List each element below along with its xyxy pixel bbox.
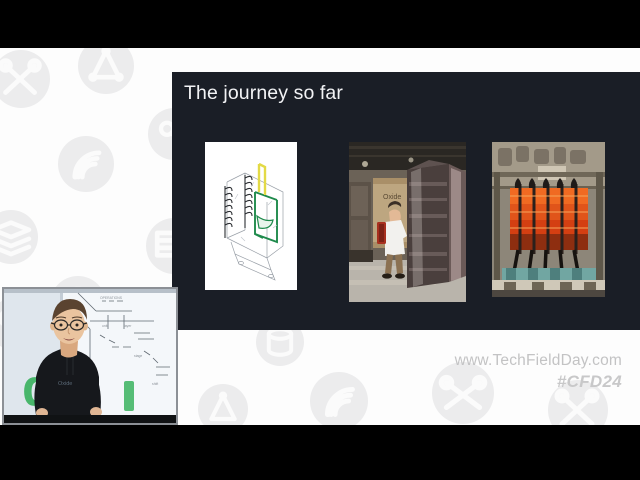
branding-block: www.TechFieldDay.com #CFD24: [455, 351, 622, 393]
brand-url: www.TechFieldDay.com: [455, 351, 622, 371]
video-stage: www.TechFieldDay.com #CFD24 The journey …: [0, 0, 640, 480]
crossed-tools-icon: [0, 50, 50, 108]
network-nodes-icon: [78, 48, 134, 94]
svg-text:shift: shift: [152, 382, 158, 386]
svg-text:Oxide: Oxide: [383, 194, 401, 201]
slide-image-row: Oxide T: [172, 142, 640, 317]
presentation-slide: The journey so far: [172, 72, 640, 330]
layers-icon: [0, 210, 38, 264]
slide-image-industrial-machine: [492, 142, 605, 297]
svg-text:unit: unit: [102, 324, 108, 328]
presenter-video-inset[interactable]: OPERATIONS unitlayer stageshift de: [2, 287, 178, 425]
brand-hashtag: #CFD24: [455, 371, 622, 393]
wifi-signal-icon: [58, 136, 114, 192]
svg-text:Oxide: Oxide: [58, 381, 72, 387]
slide-title: The journey so far: [184, 82, 343, 105]
wifi-signal-icon: [310, 372, 368, 425]
slide-image-warehouse: Oxide T: [349, 142, 466, 302]
letterbox-bottom: [0, 425, 640, 480]
slide-image-hand-sketch: [205, 142, 297, 290]
svg-text:OPERATIONS: OPERATIONS: [100, 296, 123, 300]
network-nodes-icon: [198, 384, 248, 425]
svg-text:stage: stage: [134, 354, 142, 358]
letterbox-top: [0, 0, 640, 48]
svg-text:layer: layer: [124, 324, 132, 328]
